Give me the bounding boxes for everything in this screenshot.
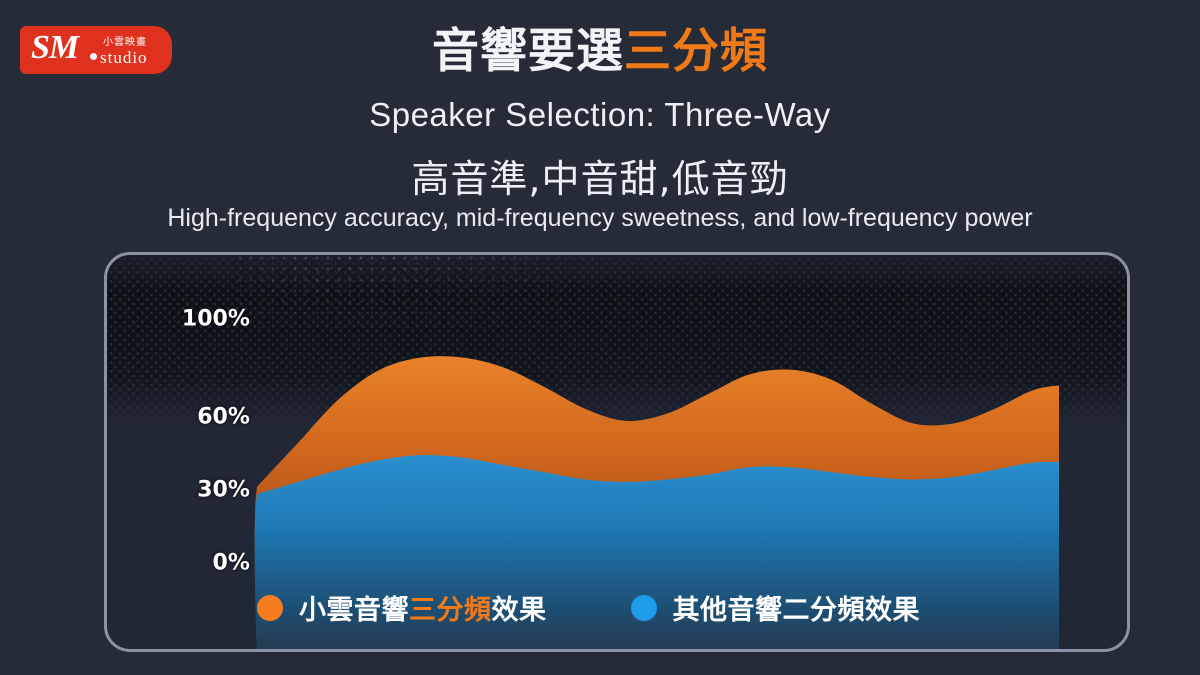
y-axis-tick-label: 0% <box>130 551 250 576</box>
y-axis-tick-label: 100% <box>130 307 250 332</box>
y-axis-tick-label: 30% <box>130 477 250 502</box>
legend-label-accent: 三分頻 <box>409 595 492 626</box>
y-axis-tick-label: 60% <box>130 404 250 429</box>
legend-dot-icon <box>257 595 283 621</box>
legend-label: 其他音響二分頻效果 <box>673 588 921 627</box>
legend-item[interactable]: 其他音響二分頻效果 <box>631 588 921 627</box>
legend-label-suffix: 效果 <box>492 595 547 626</box>
legend-label: 小雲音響三分頻效果 <box>299 588 547 627</box>
chart-panel: 100%60%30%0% 小雲音響三分頻效果其他音響二分頻效果 <box>104 252 1130 652</box>
legend-dot-icon <box>631 595 657 621</box>
tagline-chinese: 高音準,中音甜,低音勁 <box>0 148 1200 203</box>
slide-root: SM 小雲映畫 studio 音響要選三分頻 Speaker Selection… <box>0 0 1200 675</box>
tagline-english: High-frequency accuracy, mid-frequency s… <box>0 204 1200 233</box>
legend-label-prefix: 其他音響二分頻效果 <box>673 595 921 626</box>
chart-legend: 小雲音響三分頻效果其他音響二分頻效果 <box>257 588 920 627</box>
page-title: 音響要選三分頻 <box>0 26 1200 79</box>
page-title-plain: 音響要選 <box>432 24 624 79</box>
page-subtitle-english: Speaker Selection: Three-Way <box>0 96 1200 134</box>
page-title-accent: 三分頻 <box>624 24 768 79</box>
legend-item[interactable]: 小雲音響三分頻效果 <box>257 588 547 627</box>
legend-label-prefix: 小雲音響 <box>299 595 409 626</box>
